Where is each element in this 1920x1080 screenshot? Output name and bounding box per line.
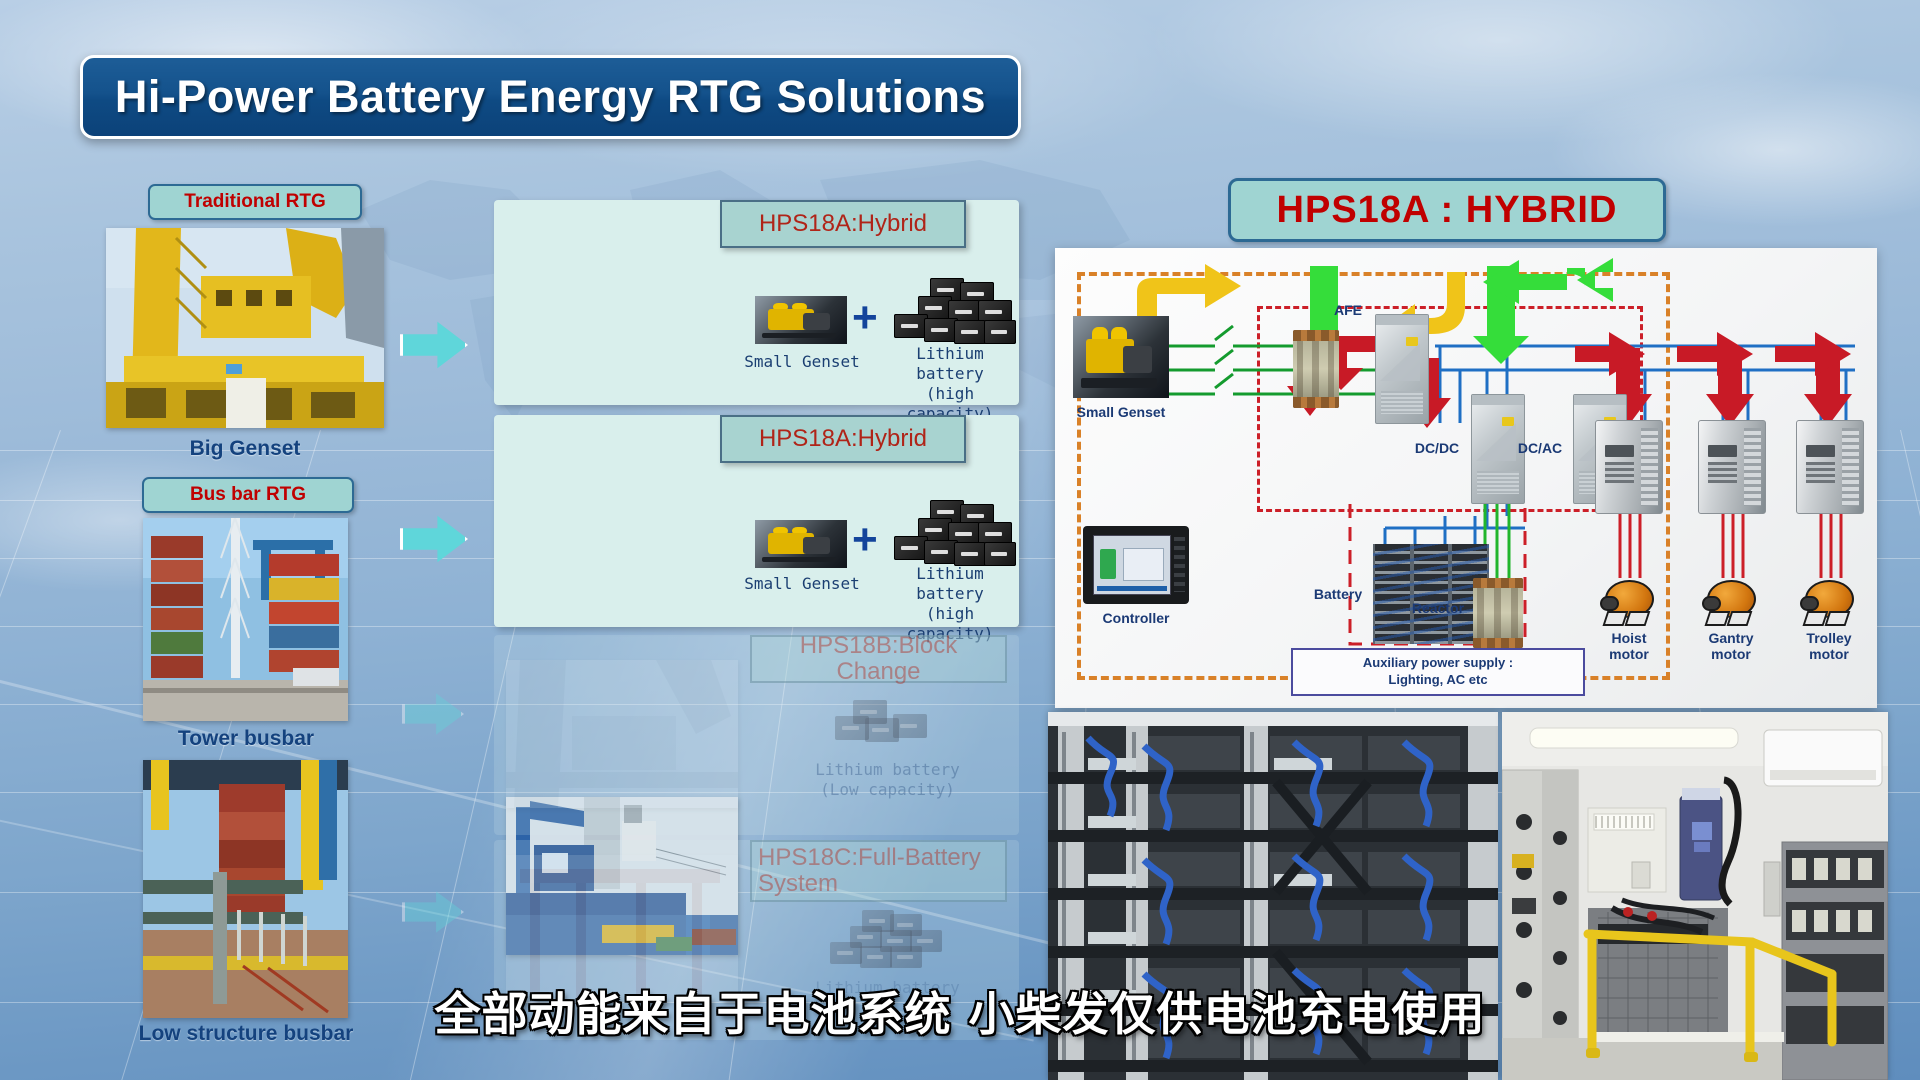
diagram-small-genset-image xyxy=(1073,316,1169,398)
diagram-battery-rack xyxy=(1373,544,1489,644)
option-2-header: HPS18A:Hybrid xyxy=(720,415,966,463)
option-3-battery-label-line2: (Low capacity) xyxy=(810,780,965,800)
option-2-genset-label: Small Genset xyxy=(742,574,862,593)
chip-bus-bar-rtg: Bus bar RTG xyxy=(142,477,354,513)
reactor-core-2 xyxy=(1312,341,1318,397)
arrow-to-option-1 xyxy=(400,318,462,366)
subtitle-text: 全部动能来自于电池系统 小柴发仅供电池充电使用 xyxy=(434,987,1485,1041)
option-3-battery-label-line1: Lithium battery xyxy=(810,760,965,780)
caption-tower-busbar-text: Tower busbar xyxy=(178,727,314,750)
diagram-label-battery: Battery xyxy=(1307,586,1369,602)
motor-shaft xyxy=(1702,596,1721,611)
caption-tower-busbar: Tower busbar xyxy=(140,727,352,751)
option-1-header: HPS18A:Hybrid xyxy=(720,200,966,248)
diagram-label-battery-text: Battery xyxy=(1314,586,1362,602)
reactor-core-1 xyxy=(1477,588,1484,638)
diagram-label-trolley-line2: motor xyxy=(1793,646,1865,662)
diagram-label-gantry-line1: Gantry xyxy=(1695,630,1767,646)
genset-base xyxy=(762,333,836,339)
diagram-motor-gantry xyxy=(1701,578,1759,626)
diagram-label-dcdc: DC/DC xyxy=(1407,440,1467,456)
drive-vent xyxy=(1842,428,1859,505)
diagram-label-controller-text: Controller xyxy=(1103,610,1170,626)
diagram-label-trolley-motor: Trolley motor xyxy=(1793,630,1865,662)
genset-body-secondary xyxy=(803,313,831,329)
diagram-input-reactor xyxy=(1293,330,1339,408)
arrow-shape xyxy=(400,318,468,372)
diagram-label-dcac: DC/AC xyxy=(1510,440,1570,456)
diagram-label-controller: Controller xyxy=(1083,610,1189,626)
diagram-drive-gantry xyxy=(1698,420,1766,514)
option-2-genset-label-text: Small Genset xyxy=(744,574,860,593)
diagram-label-afe-text: AFE xyxy=(1334,302,1362,318)
diagram-motor-hoist xyxy=(1599,578,1657,626)
option-1-battery-label-line1: Lithium battery xyxy=(880,344,1020,384)
diagram-label-gantry-line2: motor xyxy=(1695,646,1767,662)
drive-display xyxy=(1806,445,1835,457)
option-2-plus-text: + xyxy=(852,515,878,564)
option-1-plus: + xyxy=(852,296,878,340)
option-4-battery-stack xyxy=(828,910,948,970)
genset-body-secondary xyxy=(803,537,831,553)
chip-traditional-rtg-label: Traditional RTG xyxy=(184,191,325,213)
option-3-battery-stack xyxy=(835,700,935,750)
drive-display xyxy=(1605,445,1634,457)
reactor-core-3 xyxy=(1328,341,1334,397)
chip-traditional-rtg: Traditional RTG xyxy=(148,184,362,220)
option-1-genset-image xyxy=(755,296,847,344)
diagram-label-trolley-line1: Trolley xyxy=(1793,630,1865,646)
diagram-aux-power-line1: Auxiliary power supply : xyxy=(1363,655,1513,672)
diagram-label-hoist-line2: motor xyxy=(1595,646,1663,662)
option-3-photo xyxy=(506,660,738,808)
arrow-shape xyxy=(402,690,464,738)
hmi-battery-graphic xyxy=(1100,549,1117,579)
reactor-bottom-winding xyxy=(1473,638,1523,648)
reactor-core-3 xyxy=(1511,588,1518,638)
option-2-header-text: HPS18A:Hybrid xyxy=(753,426,933,452)
motor-foot-2 xyxy=(1726,611,1752,626)
option-2-battery-label-line1: Lithium battery xyxy=(880,564,1020,604)
arrow-shape xyxy=(400,512,468,566)
diagram-aux-power-line2: Lighting, AC etc xyxy=(1363,672,1513,689)
diagram-label-reactor: Reactor xyxy=(1407,600,1469,616)
drive-keypad xyxy=(1708,462,1737,482)
option-1-battery-stack xyxy=(890,278,1018,348)
diagram-controller-hmi xyxy=(1083,526,1189,604)
reactor-top-winding xyxy=(1293,330,1339,341)
motor-shaft xyxy=(1800,596,1819,611)
option-3-header: HPS18B:Block Change xyxy=(750,635,1007,683)
diagram-label-small-genset-text: Small Genset xyxy=(1077,404,1166,420)
reactor-top-winding xyxy=(1473,578,1523,588)
diagram-label-gantry-motor: Gantry motor xyxy=(1695,630,1767,662)
reactor-bottom-winding xyxy=(1293,397,1339,408)
arrow-to-option-3 xyxy=(402,690,458,732)
arrow-to-option-2 xyxy=(400,512,462,560)
right-panel-header-text: HPS18A : HYBRID xyxy=(1277,189,1618,232)
hmi-screen xyxy=(1093,535,1171,595)
genset-base xyxy=(762,557,836,563)
hmi-keypad xyxy=(1174,537,1185,592)
option-2-genset-image xyxy=(755,520,847,568)
diagram-label-dcac-text: DC/AC xyxy=(1518,440,1562,456)
option-1-genset-label: Small Genset xyxy=(742,352,862,371)
hmi-crane-graphic xyxy=(1123,548,1165,581)
hmi-status-bar xyxy=(1097,586,1167,591)
drive-vent xyxy=(1744,428,1761,505)
option-3-header-text: HPS18B:Block Change xyxy=(752,633,1005,686)
diagram-motor-trolley xyxy=(1799,578,1857,626)
photo-tower-busbar xyxy=(143,518,348,721)
system-diagram: Small Genset AFE DC/DC Contro xyxy=(1055,248,1877,708)
drive-display xyxy=(1708,445,1737,457)
diagram-label-small-genset: Small Genset xyxy=(1071,404,1171,420)
option-1-header-text: HPS18A:Hybrid xyxy=(753,211,933,237)
genset-body-secondary xyxy=(1123,346,1152,374)
arrow-to-option-4 xyxy=(402,888,458,930)
drive-keypad xyxy=(1806,462,1835,482)
subtitle-caption: 全部动能来自于电池系统 小柴发仅供电池充电使用 xyxy=(0,978,1920,1044)
option-2-plus: + xyxy=(852,518,878,562)
diagram-label-reactor-text: Reactor xyxy=(1412,600,1464,616)
diagram-afe-device xyxy=(1375,314,1429,424)
battery-rack-cabling xyxy=(1373,544,1489,644)
option-2-battery-stack xyxy=(890,500,1018,570)
option-4-header-text: HPS18C:Full-Battery System xyxy=(752,845,1005,898)
option-1-genset-label-text: Small Genset xyxy=(744,352,860,371)
option-1-plus-text: + xyxy=(852,293,878,342)
caption-big-genset: Big Genset xyxy=(106,437,384,461)
afe-triangle xyxy=(1380,343,1420,381)
reactor-core-2 xyxy=(1494,588,1501,638)
photo-traditional-rtg xyxy=(106,228,384,428)
diagram-aux-power-box: Auxiliary power supply : Lighting, AC et… xyxy=(1291,648,1585,696)
diagram-aux-power-text: Auxiliary power supply : Lighting, AC et… xyxy=(1363,655,1513,689)
diagram-label-hoist-motor: Hoist motor xyxy=(1595,630,1663,662)
diagram-label-afe: AFE xyxy=(1323,302,1373,318)
arrow-shape xyxy=(402,888,464,936)
option-1-battery-label: Lithium battery (high capacity) xyxy=(880,344,1020,424)
drive-vent xyxy=(1641,428,1658,505)
option-3-battery-label: Lithium battery (Low capacity) xyxy=(810,760,965,800)
chip-bus-bar-rtg-label: Bus bar RTG xyxy=(190,484,306,506)
diagram-label-dcdc-text: DC/DC xyxy=(1415,440,1459,456)
right-panel-header: HPS18A : HYBRID xyxy=(1228,178,1666,242)
page-title: Hi-Power Battery Energy RTG Solutions xyxy=(80,55,1021,139)
motor-foot-2 xyxy=(1824,611,1850,626)
afe-grille xyxy=(1381,391,1423,415)
genset-base xyxy=(1081,378,1158,388)
motor-foot-2 xyxy=(1624,611,1650,626)
motor-shaft xyxy=(1600,596,1619,611)
drive-keypad xyxy=(1605,462,1634,482)
diagram-drive-trolley xyxy=(1796,420,1864,514)
page-title-text: Hi-Power Battery Energy RTG Solutions xyxy=(115,71,986,123)
diagram-label-hoist-line1: Hoist xyxy=(1595,630,1663,646)
caption-big-genset-text: Big Genset xyxy=(190,437,301,460)
reactor-core-1 xyxy=(1297,341,1303,397)
diagram-drive-hoist xyxy=(1595,420,1663,514)
option-4-header: HPS18C:Full-Battery System xyxy=(750,840,1007,902)
diagram-output-reactor xyxy=(1473,578,1523,648)
